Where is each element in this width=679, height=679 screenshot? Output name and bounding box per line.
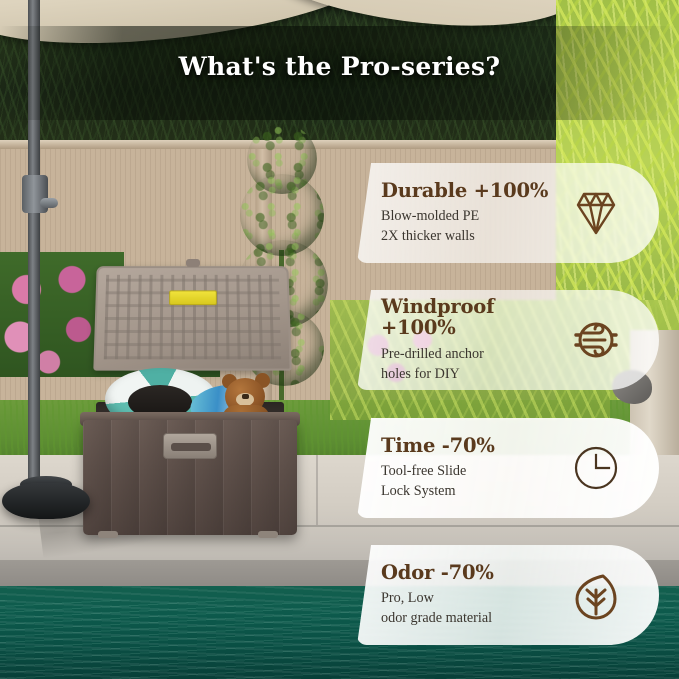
handle-slot [171,443,211,451]
feature-text-time: Time -70% Tool-free Slide Lock System [381,435,565,502]
clock-icon [565,437,627,499]
warning-label [169,290,217,305]
page-title: What's the Pro-series? [0,52,679,81]
feature-title-windproof: Windproof +100% [381,296,565,339]
feature-line-durable-2: 2X thicker walls [381,226,565,246]
feature-panel-odor: Odor -70% Pro, Low odor grade material [357,545,659,645]
feature-title-odor: Odor -70% [381,562,565,583]
feature-text-windproof: Windproof +100% Pre-drilled anchor holes… [381,296,565,384]
feature-line-windproof-1: Pre-drilled anchor [381,344,565,364]
promo-image: What's the Pro-series? Durable +100% Blo… [0,0,679,679]
deck-box-handle [163,433,217,459]
feature-line-windproof-2: holes for DIY [381,364,565,384]
diamond-icon [565,182,627,244]
patio-seam-vertical [316,455,318,525]
umbrella-base [2,483,90,519]
deck-box-foot-right [258,531,278,538]
feature-text-odor: Odor -70% Pro, Low odor grade material [381,562,565,629]
feature-line-time-2: Lock System [381,481,565,501]
feature-line-time-1: Tool-free Slide [381,461,565,481]
deck-box-foot-left [98,531,118,538]
feature-panel-durable: Durable +100% Blow-molded PE 2X thicker … [357,163,659,263]
feature-line-odor-2: odor grade material [381,608,565,628]
teddy-bear-nose [242,394,249,399]
deck-box-lid [93,266,291,370]
feature-title-time: Time -70% [381,435,565,456]
feature-title-durable: Durable +100% [381,180,565,201]
wind-icon [565,309,627,371]
feature-line-odor-1: Pro, Low [381,588,565,608]
lid-hinge [186,259,200,267]
umbrella-tilt-knob [40,198,58,208]
lid-lattice-pattern [104,275,281,359]
feature-panel-time: Time -70% Tool-free Slide Lock System [357,418,659,518]
feature-line-durable-1: Blow-molded PE [381,206,565,226]
feature-text-durable: Durable +100% Blow-molded PE 2X thicker … [381,180,565,247]
leaf-icon [565,564,627,626]
feature-panel-windproof: Windproof +100% Pre-drilled anchor holes… [357,290,659,390]
